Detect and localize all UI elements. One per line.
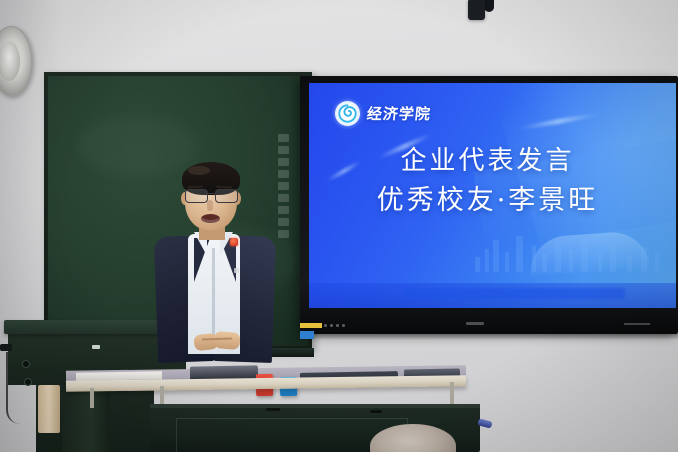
cabinet-top-edge [150,404,480,408]
glasses-lens-left [185,189,208,203]
slide-title: 企业代表发言 [309,141,666,181]
lectern-cable [6,352,20,424]
slide-subtitle: 优秀校友·李景旺 [309,181,666,222]
chalk-mark [278,134,289,142]
lectern-indicator-light-icon [92,345,100,349]
chalk-mark [278,146,289,154]
glasses-bridge [206,193,215,194]
display-control-buttons[interactable] [318,324,345,327]
lectern-microphone-icon [0,344,12,351]
school-logo: 经济学院 [335,101,431,126]
desk-leg [450,382,454,404]
display-button[interactable] [324,324,327,327]
party-emblem-pin-icon [230,238,238,246]
slide-bottom-accent [404,288,624,299]
classroom-photo-scene: 经济学院 企业代表发言 优秀校友·李景旺 [0,0,678,452]
speaker-presenter [150,160,280,390]
cabinet-handle[interactable] [266,408,280,411]
cabinet-handle[interactable] [370,410,382,413]
hand-right [213,331,240,350]
ceiling-camera-mount-icon [468,0,485,20]
presentation-slide: 经济学院 企业代表发言 优秀校友·李景旺 [309,83,676,308]
ceiling-mount-arm-icon [484,0,494,12]
display-brand-logo-icon [466,322,484,325]
slide-text-block: 企业代表发言 优秀校友·李景旺 [309,141,676,222]
blue-sticky-note [300,331,314,339]
lectern-knob[interactable] [24,378,32,386]
display-button[interactable] [342,324,345,327]
glasses-lens-right [215,189,238,203]
mouth [201,214,220,223]
lectern-knob[interactable] [22,360,30,368]
display-sensor-strip [624,323,650,325]
slide-city-skyline [470,214,676,273]
display-button[interactable] [336,324,339,327]
display-screen: 经济学院 企业代表发言 优秀校友·李景旺 [309,83,676,308]
display-button[interactable] [330,324,333,327]
paper-roll [38,385,60,433]
spiral-shell-logo-icon [335,101,360,126]
display-shadow [300,334,678,340]
nose [207,200,213,211]
desk-leg [90,388,94,408]
yellow-sticky-note [300,323,322,328]
school-logo-text: 经济学院 [366,103,432,124]
lapel-badge-icon [234,268,239,273]
interactive-smart-display[interactable]: 经济学院 企业代表发言 优秀校友·李景旺 [300,76,678,334]
